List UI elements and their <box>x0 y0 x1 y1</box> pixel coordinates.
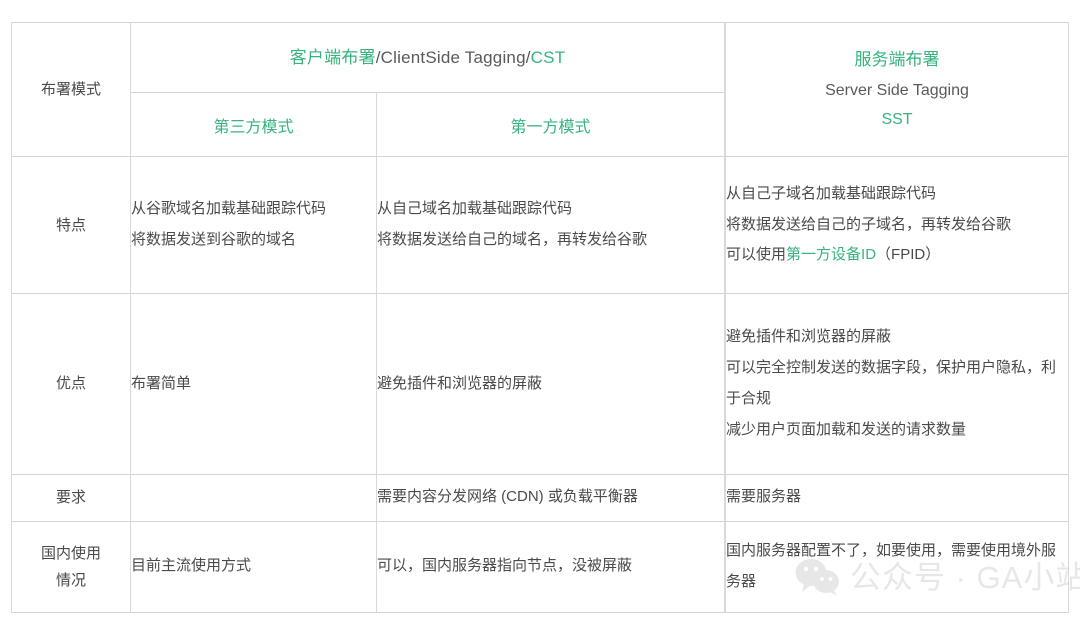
row-label-advantages: 优点 <box>11 294 131 475</box>
cell-line: 从谷歌域名加载基础跟踪代码 <box>131 194 376 225</box>
row-label-domestic-usage: 国内使用 情况 <box>11 522 131 613</box>
cell-line-fpid: 可以使用第一方设备ID（FPID） <box>726 240 1068 271</box>
cell-line: 将数据发送给自己的域名，再转发给谷歌 <box>377 225 724 256</box>
cell-domestic-first-party: 可以，国内服务器指向节点，没被屏蔽 <box>377 522 725 613</box>
fpid-highlight: 第一方设备ID <box>786 246 876 263</box>
cell-advantages-first-party: 避免插件和浏览器的屏蔽 <box>377 294 725 475</box>
cell-line: 将数据发送到谷歌的域名 <box>131 225 376 256</box>
row-label-requirements: 要求 <box>11 475 131 521</box>
table-row: 特点 从谷歌域名加载基础跟踪代码 将数据发送到谷歌的域名 从自己域名加载基础跟踪… <box>11 157 1069 293</box>
header-server-side-group: 服务端布署 Server Side Tagging SST <box>725 22 1069 157</box>
row-label-line: 国内使用 <box>12 540 130 567</box>
row-label-characteristics: 特点 <box>11 157 131 293</box>
client-group-title-abbr: CST <box>531 48 566 67</box>
cell-line: 从自己域名加载基础跟踪代码 <box>377 194 724 225</box>
server-group-title-en: Server Side Tagging <box>726 76 1068 106</box>
cell-line: 需要服务器 <box>726 482 1068 513</box>
cell-line: 布署简单 <box>131 369 376 400</box>
cell-requirements-first-party: 需要内容分发网络 (CDN) 或负载平衡器 <box>377 475 725 521</box>
cell-line: 避免插件和浏览器的屏蔽 <box>726 322 1068 353</box>
header-corner-label: 布署模式 <box>11 22 131 157</box>
row-label-line: 情况 <box>12 567 130 594</box>
cell-requirements-third-party <box>131 475 377 521</box>
table-row: 国内使用 情况 目前主流使用方式 可以，国内服务器指向节点，没被屏蔽 国内服务器… <box>11 522 1069 613</box>
cell-line: 将数据发送给自己的子域名，再转发给谷歌 <box>726 210 1068 241</box>
cell-characteristics-server-side: 从自己子域名加载基础跟踪代码 将数据发送给自己的子域名，再转发给谷歌 可以使用第… <box>725 157 1069 293</box>
cell-domestic-server-side: 国内服务器配置不了，如要使用，需要使用境外服务器 <box>725 522 1069 613</box>
cell-requirements-server-side: 需要服务器 <box>725 475 1069 521</box>
fpid-prefix: 可以使用 <box>726 246 786 263</box>
cell-line: 从自己子域名加载基础跟踪代码 <box>726 179 1068 210</box>
cell-line: 可以，国内服务器指向节点，没被屏蔽 <box>377 551 724 582</box>
comparison-table-page: 布署模式 客户端布署/ClientSide Tagging/CST 服务端布署 … <box>0 0 1080 624</box>
header-client-side-group: 客户端布署/ClientSide Tagging/CST <box>131 22 725 93</box>
cell-line: 国内服务器配置不了，如要使用，需要使用境外服务器 <box>726 536 1068 598</box>
server-group-title-cn: 服务端布署 <box>726 44 1068 75</box>
cell-line: 需要内容分发网络 (CDN) 或负载平衡器 <box>377 482 724 513</box>
cell-line: 目前主流使用方式 <box>131 551 376 582</box>
cell-characteristics-first-party: 从自己域名加载基础跟踪代码 将数据发送给自己的域名，再转发给谷歌 <box>377 157 725 293</box>
table-row: 优点 布署简单 避免插件和浏览器的屏蔽 避免插件和浏览器的屏蔽 可以完全控制发送… <box>11 294 1069 475</box>
cell-line: 减少用户页面加载和发送的请求数量 <box>726 415 1068 446</box>
cell-characteristics-third-party: 从谷歌域名加载基础跟踪代码 将数据发送到谷歌的域名 <box>131 157 377 293</box>
client-group-title-cn: 客户端布署 <box>290 48 376 67</box>
cell-line: 可以完全控制发送的数据字段，保护用户隐私，利于合规 <box>726 353 1068 415</box>
table-row: 要求 需要内容分发网络 (CDN) 或负载平衡器 需要服务器 <box>11 475 1069 521</box>
table-header-group-row: 布署模式 客户端布署/ClientSide Tagging/CST 服务端布署 … <box>11 22 1069 93</box>
server-group-title-abbr: SST <box>726 105 1068 135</box>
cell-domestic-third-party: 目前主流使用方式 <box>131 522 377 613</box>
header-first-party-mode: 第一方模式 <box>377 93 725 158</box>
header-third-party-mode: 第三方模式 <box>131 93 377 158</box>
fpid-suffix: （FPID） <box>876 246 940 263</box>
cell-line: 避免插件和浏览器的屏蔽 <box>377 369 724 400</box>
cell-advantages-third-party: 布署简单 <box>131 294 377 475</box>
cell-advantages-server-side: 避免插件和浏览器的屏蔽 可以完全控制发送的数据字段，保护用户隐私，利于合规 减少… <box>725 294 1069 475</box>
client-group-title-en: ClientSide Tagging <box>381 48 526 67</box>
deployment-comparison-table: 布署模式 客户端布署/ClientSide Tagging/CST 服务端布署 … <box>11 22 1069 613</box>
